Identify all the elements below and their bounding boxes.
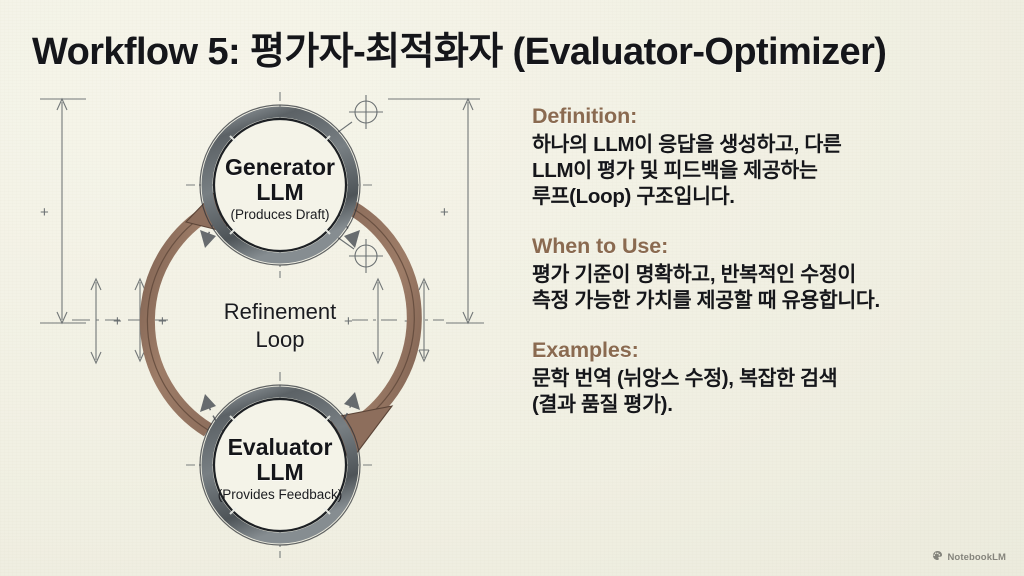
examples-line-2: (결과 품질 평가).: [532, 392, 1010, 418]
definition-line-2: LLM이 평가 및 피드백을 제공하는: [532, 158, 1010, 184]
node-evaluator-llm[interactable]: [200, 385, 360, 545]
content-block-when-to-use: When to Use: 평가 기준이 명확하고, 반복적인 수정이 측정 가능…: [532, 234, 1010, 314]
svg-text:+: +: [440, 204, 449, 221]
svg-text:+: +: [40, 204, 49, 221]
when-to-use-body: 평가 기준이 명확하고, 반복적인 수정이 측정 가능한 가치를 제공할 때 유…: [532, 262, 1010, 314]
definition-line-3: 루프(Loop) 구조입니다.: [532, 184, 1010, 210]
when-to-use-line-1: 평가 기준이 명확하고, 반복적인 수정이: [532, 262, 1010, 288]
crosshair-target-icon-top: [330, 95, 383, 138]
page-title: Workflow 5: 평가자-최적화자 (Evaluator-Optimize…: [32, 20, 1007, 75]
node-generator-llm[interactable]: [200, 105, 360, 265]
definition-body: 하나의 LLM이 응답을 생성하고, 다른 LLM이 평가 및 피드백을 제공하…: [532, 132, 1010, 210]
notebooklm-icon: [932, 548, 943, 566]
when-to-use-heading: When to Use:: [532, 234, 1010, 259]
workflow-loop-diagram: + + + + + +: [0, 70, 510, 576]
content-block-definition: Definition: 하나의 LLM이 응답을 생성하고, 다른 LLM이 평…: [532, 104, 1010, 210]
notebooklm-watermark: NotebookLM: [932, 548, 1006, 566]
examples-body: 문학 번역 (뉘앙스 수정), 복잡한 검색 (결과 품질 평가).: [532, 366, 1010, 418]
examples-heading: Examples:: [532, 338, 1010, 363]
notebooklm-label: NotebookLM: [947, 552, 1006, 563]
examples-line-1: 문학 번역 (뉘앙스 수정), 복잡한 검색: [532, 366, 1010, 392]
definition-heading: Definition:: [532, 104, 1010, 129]
content-block-examples: Examples: 문학 번역 (뉘앙스 수정), 복잡한 검색 (결과 품질 …: [532, 338, 1010, 418]
svg-text:+: +: [158, 313, 167, 330]
svg-text:+: +: [113, 313, 122, 330]
definition-line-1: 하나의 LLM이 응답을 생성하고, 다른: [532, 132, 1010, 158]
svg-text:+: +: [344, 313, 353, 330]
content-column: Definition: 하나의 LLM이 응답을 생성하고, 다른 LLM이 평…: [532, 104, 1010, 418]
when-to-use-line-2: 측정 가능한 가치를 제공할 때 유용합니다.: [532, 288, 1010, 314]
